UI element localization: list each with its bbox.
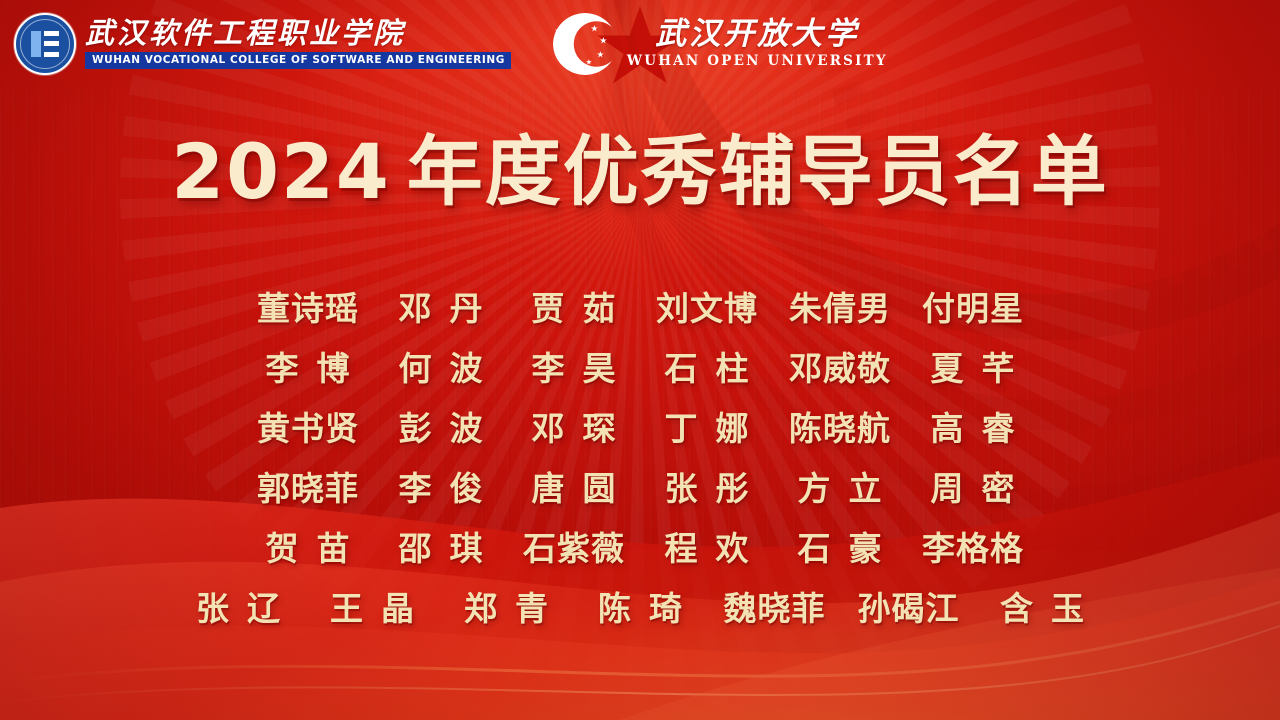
college-name-cn: 武汉软件工程职业学院 xyxy=(85,19,511,48)
crescent-stars-icon xyxy=(553,13,617,75)
honoree-name: 邓威敬 xyxy=(773,343,906,395)
honoree-name: 张彤 xyxy=(640,463,773,515)
honoree-name: 邓丹 xyxy=(374,283,507,335)
college-name-block: 武汉软件工程职业学院 WUHAN VOCATIONAL COLLEGE OF S… xyxy=(85,19,511,69)
honoree-name: 张辽 xyxy=(171,583,305,635)
honoree-name: 郑青 xyxy=(439,583,573,635)
honoree-name: 付明星 xyxy=(906,283,1039,335)
title-year: 2024 xyxy=(171,127,391,216)
honoree-name: 含玉 xyxy=(975,583,1109,635)
honoree-name: 王晶 xyxy=(305,583,439,635)
name-row: 黄书贤彭波邓琛丁娜陈晓航高睿 xyxy=(0,403,1280,455)
honoree-name: 贺苗 xyxy=(241,523,374,575)
honoree-name: 李俊 xyxy=(374,463,507,515)
honoree-name: 魏晓菲 xyxy=(707,583,841,635)
honoree-name: 董诗瑶 xyxy=(241,283,374,335)
honoree-name: 石紫薇 xyxy=(507,523,640,575)
seal-book-mark xyxy=(31,31,59,57)
page-title: 2024年度优秀辅导员名单 xyxy=(0,132,1280,213)
honoree-name: 李博 xyxy=(241,343,374,395)
honoree-name: 程欢 xyxy=(640,523,773,575)
honoree-name: 黄书贤 xyxy=(241,403,374,455)
logo-wuhan-open-university: 武汉开放大学 WUHAN OPEN UNIVERSITY xyxy=(553,13,888,75)
honoree-name: 贾茹 xyxy=(507,283,640,335)
honoree-name: 朱倩男 xyxy=(773,283,906,335)
title-line: 2024年度优秀辅导员名单 xyxy=(171,132,1109,213)
name-row: 郭晓菲李俊唐圆张彤方立周密 xyxy=(0,463,1280,515)
university-name-cn: 武汉开放大学 xyxy=(627,19,888,50)
college-name-en: WUHAN VOCATIONAL COLLEGE OF SOFTWARE AND… xyxy=(85,52,511,69)
poster-canvas: 武汉软件工程职业学院 WUHAN VOCATIONAL COLLEGE OF S… xyxy=(0,0,1280,720)
name-row: 董诗瑶邓丹贾茹刘文博朱倩男付明星 xyxy=(0,283,1280,335)
name-row: 张辽王晶郑青陈琦魏晓菲孙碣江含玉 xyxy=(0,583,1280,635)
honoree-name: 夏芊 xyxy=(906,343,1039,395)
honoree-name: 彭波 xyxy=(374,403,507,455)
honoree-name: 石豪 xyxy=(773,523,906,575)
honoree-name-grid: 董诗瑶邓丹贾茹刘文博朱倩男付明星李博何波李昊石柱邓威敬夏芊黄书贤彭波邓琛丁娜陈晓… xyxy=(0,283,1280,643)
honoree-name: 孙碣江 xyxy=(841,583,975,635)
honoree-name: 郭晓菲 xyxy=(241,463,374,515)
honoree-name: 邓琛 xyxy=(507,403,640,455)
university-name-en: WUHAN OPEN UNIVERSITY xyxy=(627,55,888,69)
header-logo-bar: 武汉软件工程职业学院 WUHAN VOCATIONAL COLLEGE OF S… xyxy=(0,0,1280,88)
honoree-name: 高睿 xyxy=(906,403,1039,455)
honoree-name: 陈琦 xyxy=(573,583,707,635)
honoree-name: 方立 xyxy=(773,463,906,515)
logo-wuhan-vocational-college: 武汉软件工程职业学院 WUHAN VOCATIONAL COLLEGE OF S… xyxy=(14,13,511,75)
honoree-name: 陈晓航 xyxy=(773,403,906,455)
honoree-name: 周密 xyxy=(906,463,1039,515)
honoree-name: 石柱 xyxy=(640,343,773,395)
title-main: 年度优秀辅导员名单 xyxy=(407,127,1109,216)
name-row: 李博何波李昊石柱邓威敬夏芊 xyxy=(0,343,1280,395)
honoree-name: 刘文博 xyxy=(640,283,773,335)
name-row: 贺苗邵琪石紫薇程欢石豪李格格 xyxy=(0,523,1280,575)
college-seal-icon xyxy=(14,13,76,75)
honoree-name: 唐圆 xyxy=(507,463,640,515)
honoree-name: 邵琪 xyxy=(374,523,507,575)
honoree-name: 李昊 xyxy=(507,343,640,395)
honoree-name: 何波 xyxy=(374,343,507,395)
university-name-block: 武汉开放大学 WUHAN OPEN UNIVERSITY xyxy=(627,19,888,69)
honoree-name: 李格格 xyxy=(906,523,1039,575)
honoree-name: 丁娜 xyxy=(640,403,773,455)
